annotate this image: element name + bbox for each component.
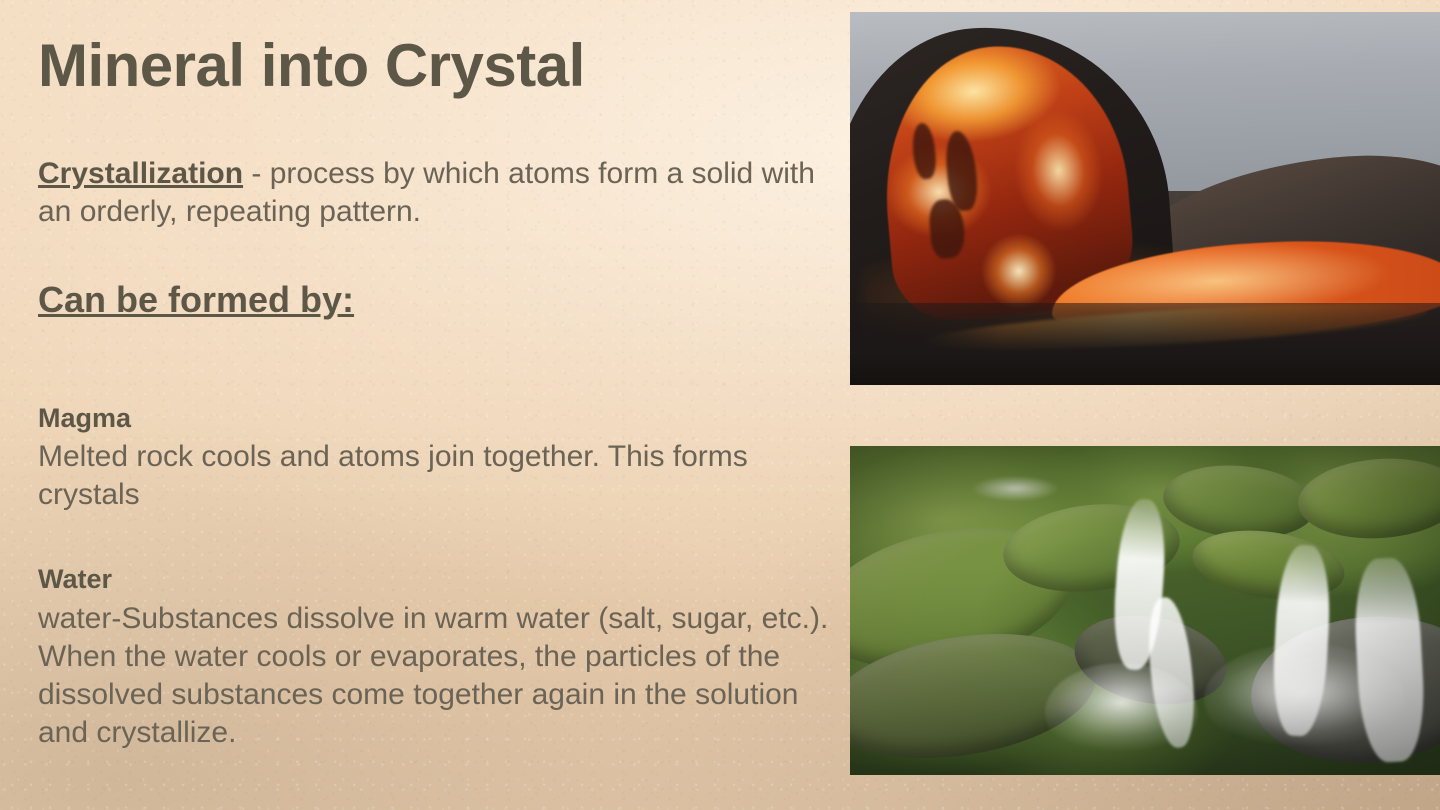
section-heading-magma: Magma [38, 402, 131, 434]
mountain-stream-photo [850, 446, 1440, 775]
lava-flow-photo [850, 12, 1440, 385]
section-body-water: water-Substances dissolve in warm water … [38, 600, 848, 752]
text-column: Mineral into Crystal Crystallization - p… [0, 0, 850, 810]
section-body-magma: Melted rock cools and atoms join togethe… [38, 438, 798, 514]
crust-blob [912, 122, 939, 180]
page-title: Mineral into Crystal [38, 34, 585, 97]
vignette-overlay [850, 446, 1440, 775]
definition-paragraph: Crystallization - process by which atoms… [38, 155, 828, 231]
section-heading-water: Water [38, 563, 112, 595]
foreground-rock [850, 303, 1440, 385]
formed-by-heading: Can be formed by: [38, 278, 354, 322]
term-crystallization: Crystallization [38, 157, 243, 190]
slide-canvas: Mineral into Crystal Crystallization - p… [0, 0, 1440, 810]
